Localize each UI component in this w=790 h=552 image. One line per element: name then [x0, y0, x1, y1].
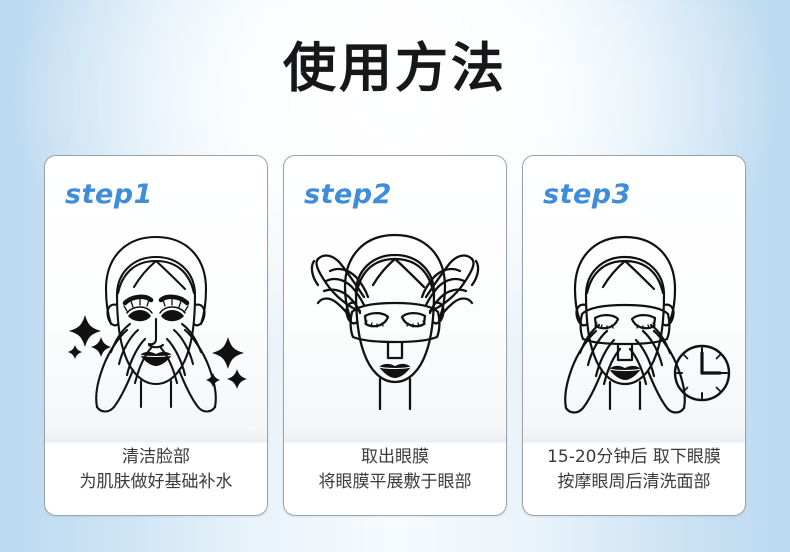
usage-instructions-poster: 使用方法 step1: [0, 0, 790, 552]
step-caption-3: 15-20分钟后 取下眼膜 按摩眼周后清洗面部: [523, 445, 745, 495]
step-caption-1-line-2: 为肌肤做好基础补水: [45, 470, 267, 495]
page-title: 使用方法: [0, 38, 790, 100]
step-label-3: step3: [543, 180, 631, 210]
step-caption-1-line-1: 清洁脸部: [45, 445, 267, 470]
step-label-1: step1: [65, 180, 153, 210]
applying-eye-mask-with-both-hands-icon: [300, 227, 490, 432]
step-illustration-2: [284, 220, 506, 438]
step-caption-1: 清洁脸部 为肌肤做好基础补水: [45, 445, 267, 495]
step-card-1[interactable]: step1: [44, 155, 268, 516]
step-caption-2: 取出眼膜 将眼膜平展敷于眼部: [284, 445, 506, 495]
step-card-2[interactable]: step2: [283, 155, 507, 516]
step-caption-3-line-2: 按摩眼周后清洗面部: [523, 470, 745, 495]
step-illustration-1: [45, 220, 267, 438]
step-caption-3-line-1: 15-20分钟后 取下眼膜: [523, 445, 745, 470]
face-cleansing-with-hands-and-sparkles-icon: [61, 227, 251, 432]
step-label-2: step2: [304, 180, 392, 210]
step-card-3[interactable]: step3: [522, 155, 746, 516]
step-caption-2-line-2: 将眼膜平展敷于眼部: [284, 470, 506, 495]
steps-container: step1: [44, 155, 746, 516]
face-with-eye-mask-massage-and-clock-icon: [537, 227, 732, 432]
step-illustration-3: [523, 220, 745, 438]
step-caption-2-line-1: 取出眼膜: [284, 445, 506, 470]
